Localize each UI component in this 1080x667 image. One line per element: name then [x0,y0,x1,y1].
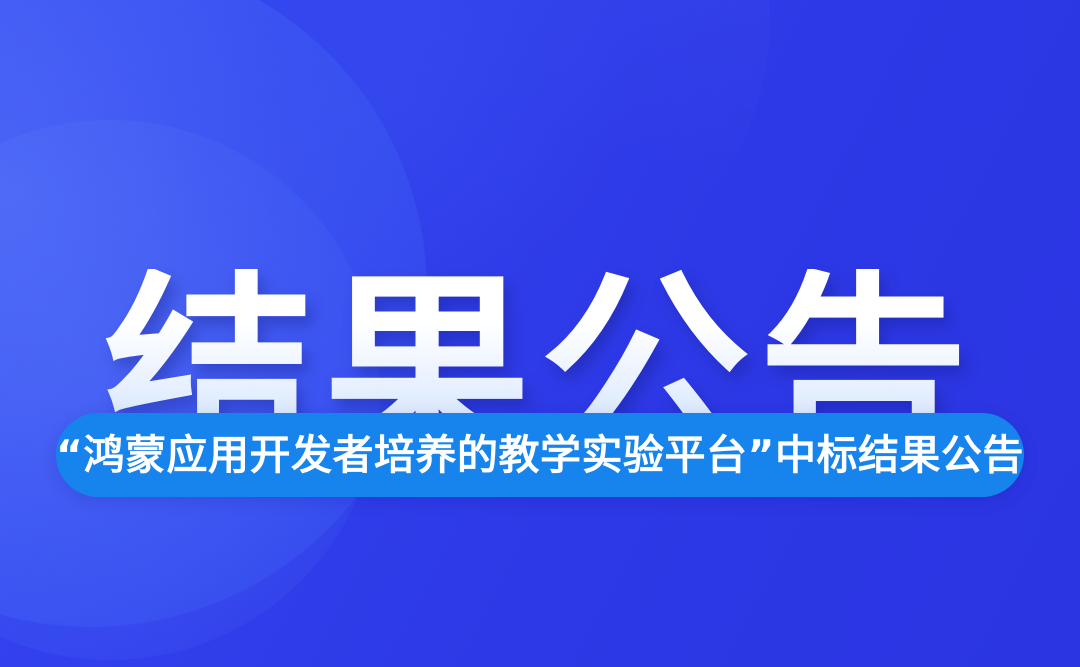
banner-content: 结果公告 “鸿蒙应用开发者培养的教学实验平台”中标结果公告 [0,0,1080,667]
subtitle-text: “鸿蒙应用开发者培养的教学实验平台”中标结果公告 [56,435,1024,476]
subtitle-pill: “鸿蒙应用开发者培养的教学实验平台”中标结果公告 [56,413,1024,497]
result-announcement-banner: 结果公告 “鸿蒙应用开发者培养的教学实验平台”中标结果公告 [0,0,1080,667]
